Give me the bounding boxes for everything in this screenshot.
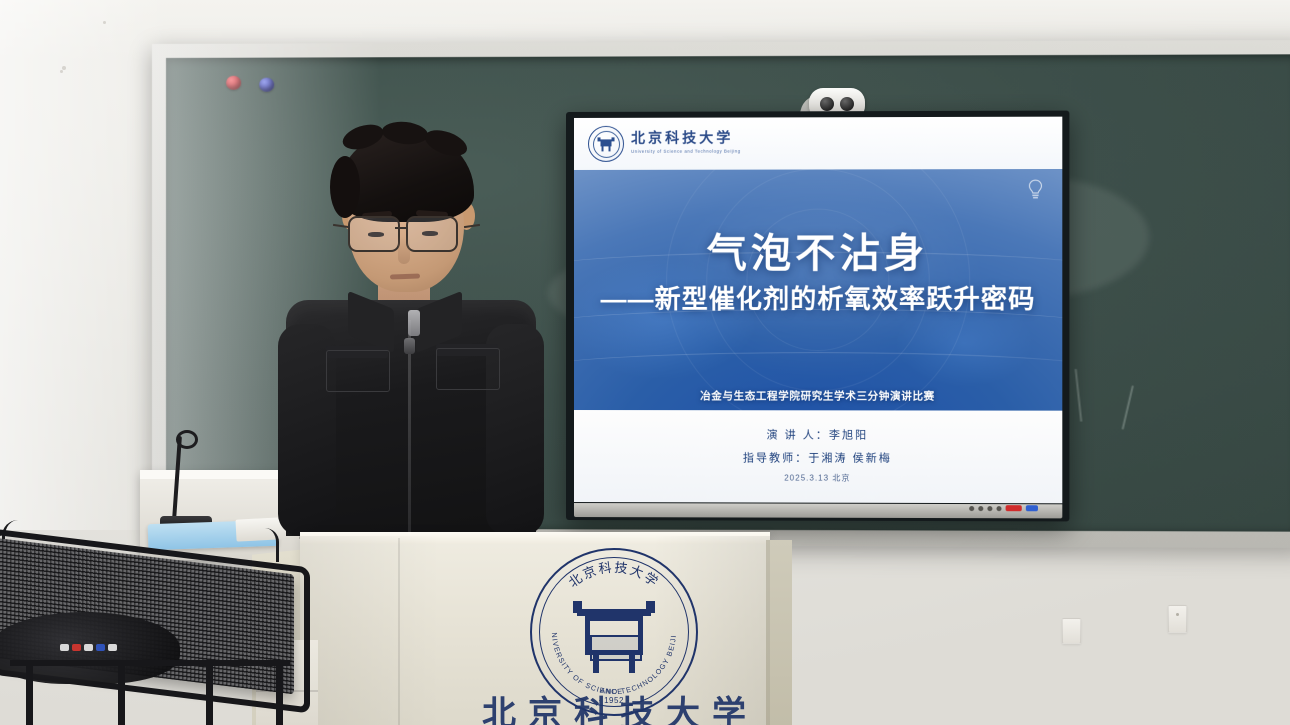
wall-blemish-1 xyxy=(62,66,66,70)
wall-plate-left[interactable] xyxy=(1062,618,1081,644)
microphone-head[interactable] xyxy=(176,430,198,449)
pocket-right xyxy=(436,348,500,390)
glasses-bridge xyxy=(395,227,408,229)
display-button-3[interactable] xyxy=(987,506,992,511)
chair-dot-blue xyxy=(96,644,105,651)
camera-lens-left xyxy=(820,97,834,111)
chalk-stroke-6 xyxy=(1122,386,1134,430)
ding-glyph xyxy=(598,136,615,151)
chair-dot-white-3 xyxy=(108,644,117,651)
chair-dot-white-1 xyxy=(60,644,69,651)
magnet-red[interactable] xyxy=(226,76,241,90)
slide-title-block: 气泡不沾身 ——新型催化剂的析氧效率跃升密码 xyxy=(574,232,1062,316)
wall-plate-screw xyxy=(1176,613,1179,616)
university-name-en: University of Science and Technology Bei… xyxy=(631,150,741,155)
display-bezel: 北京科技大学 University of Science and Technol… xyxy=(574,117,1062,504)
chalk-stroke-5 xyxy=(1075,369,1083,422)
wall-plate-right[interactable] xyxy=(1168,605,1187,633)
university-logo-text: 北京科技大学 University of Science and Technol… xyxy=(631,133,741,155)
slide-title-sub: ——新型催化剂的析氧效率跃升密码 xyxy=(574,278,1062,315)
flat-panel-display[interactable]: 北京科技大学 University of Science and Technol… xyxy=(566,111,1069,522)
slide-footer: 演 讲 人：李旭阳 指导教师：于湘涛 侯新梅 2025.3.13 北京 xyxy=(574,410,1062,503)
seal-ding-glyph xyxy=(573,595,655,675)
slide-body: 气泡不沾身 ——新型催化剂的析氧效率跃升密码 冶金与生态工程学院研究生学术三分钟… xyxy=(574,169,1062,411)
nose xyxy=(398,236,410,264)
podium-front-text: 北京科技大学 xyxy=(470,686,770,725)
bulb-icon xyxy=(1027,179,1044,200)
display-button-2[interactable] xyxy=(978,506,983,511)
slide-event-line: 冶金与生态工程学院研究生学术三分钟演讲比赛 xyxy=(574,388,1062,404)
chair-dot-white-2 xyxy=(84,644,93,651)
chair-leg-1 xyxy=(26,660,33,725)
power-led xyxy=(1006,505,1022,511)
chair-leg-3 xyxy=(206,660,213,725)
slide-speaker-line: 演 讲 人：李旭阳 xyxy=(766,426,868,442)
magnet-blue[interactable] xyxy=(259,78,274,92)
display-button-4[interactable] xyxy=(996,506,1001,511)
chair-accent-dots xyxy=(60,644,117,651)
university-logo: 北京科技大学 University of Science and Technol… xyxy=(588,126,741,162)
chair-leg-4 xyxy=(276,660,283,725)
lens-right xyxy=(406,216,458,252)
presentation-slide: 北京科技大学 University of Science and Technol… xyxy=(574,117,1062,504)
display-buttons[interactable] xyxy=(969,501,1038,515)
wall-left-highlight xyxy=(0,0,170,530)
svg-text:北京科技大学: 北京科技大学 xyxy=(566,560,663,591)
display-control-bar[interactable] xyxy=(574,503,1062,518)
mouth xyxy=(390,273,420,279)
slide-title-main: 气泡不沾身 xyxy=(574,232,1062,275)
chair-legs xyxy=(10,660,290,725)
wall-blemish-2 xyxy=(60,70,63,73)
seal-inscription-plate xyxy=(590,635,642,661)
chair-dot-red xyxy=(72,644,81,651)
zipper-pull xyxy=(404,338,415,354)
ustb-seal-icon xyxy=(588,126,624,162)
slide-advisor-line: 指导教师：于湘涛 侯新梅 xyxy=(743,449,892,465)
display-button-1[interactable] xyxy=(969,506,974,511)
slide-header: 北京科技大学 University of Science and Technol… xyxy=(574,117,1062,170)
classroom-photo: 北京科技大学 University of Science and Technol… xyxy=(0,0,1290,725)
chair-wire-right xyxy=(250,528,279,562)
presenter xyxy=(286,124,536,536)
lanyard-badge xyxy=(408,310,420,336)
camera-lens-right xyxy=(840,97,854,111)
chair-leg-2 xyxy=(118,660,125,725)
university-name-cn: 北京科技大学 xyxy=(631,133,741,147)
pocket-left xyxy=(326,350,390,392)
lens-left xyxy=(348,216,400,252)
chair-crossbar xyxy=(10,660,290,666)
wall-blemish-3 xyxy=(103,21,106,24)
display-screen[interactable]: 北京科技大学 University of Science and Technol… xyxy=(574,117,1062,504)
slide-date-line: 2025.3.13 北京 xyxy=(784,472,850,483)
status-led xyxy=(1026,505,1038,511)
decor-wave-3 xyxy=(574,352,1062,390)
